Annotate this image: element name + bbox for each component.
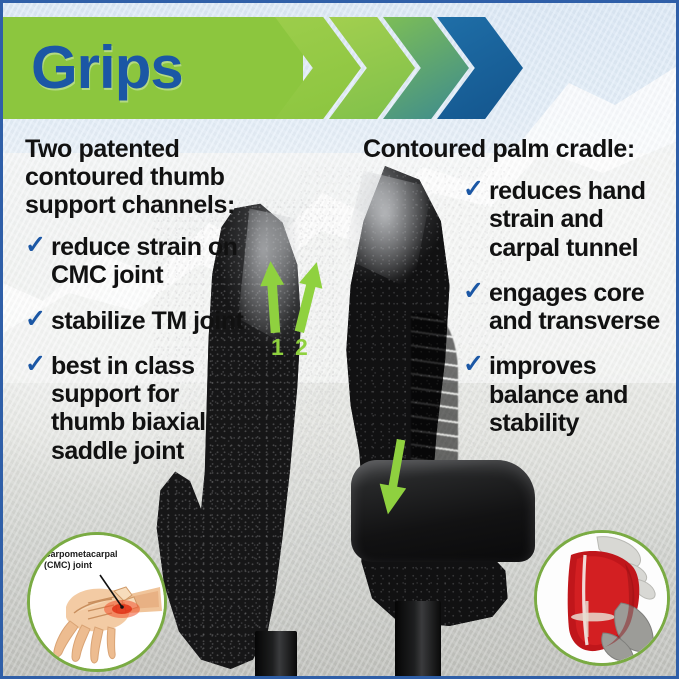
bullet-label: reduces hand strain and carpal tunnel	[489, 177, 661, 262]
list-item: ✓ improves balance and stability	[463, 352, 663, 437]
left-column-heading: Two patented contoured thumb support cha…	[25, 135, 265, 219]
bullet-label: stabilize TM joint	[51, 307, 251, 335]
check-icon: ✓	[463, 351, 484, 379]
infographic-canvas: Grips 1 2 Two patented contoured thumb s…	[0, 0, 679, 679]
page-title: Grips	[31, 38, 183, 98]
check-icon: ✓	[463, 176, 484, 204]
list-item: ✓ best in class support for thumb biaxia…	[25, 352, 265, 465]
list-item: ✓ stabilize TM joint	[25, 307, 265, 335]
bullet-label: reduce strain on CMC joint	[51, 233, 251, 290]
list-item: ✓ reduces hand strain and carpal tunnel	[463, 177, 663, 262]
check-icon: ✓	[25, 306, 46, 334]
bullet-label: best in class support for thumb biaxial …	[51, 352, 251, 465]
right-text-column: Contoured palm cradle: ✓ reduces hand st…	[363, 135, 663, 454]
check-icon: ✓	[463, 278, 484, 306]
header-banner: Grips	[3, 17, 676, 119]
bullet-label: improves balance and stability	[489, 352, 661, 437]
check-icon: ✓	[25, 351, 46, 379]
cmc-joint-inset: Carpometacarpal (CMC) joint	[27, 532, 167, 672]
right-bullet-list: ✓ reduces hand strain and carpal tunnel …	[363, 177, 663, 437]
core-muscle-inset	[534, 530, 670, 666]
core-muscle-anatomy-icon	[537, 533, 667, 663]
right-column-heading: Contoured palm cradle:	[363, 135, 663, 163]
left-bullet-list: ✓ reduce strain on CMC joint ✓ stabilize…	[25, 233, 265, 465]
bullet-label: engages core and transverse	[489, 279, 661, 336]
list-item: ✓ reduce strain on CMC joint	[25, 233, 265, 290]
cmc-joint-label: Carpometacarpal (CMC) joint	[44, 549, 140, 572]
left-text-column: Two patented contoured thumb support cha…	[25, 135, 265, 482]
list-item: ✓ engages core and transverse	[463, 279, 663, 336]
check-icon: ✓	[25, 232, 46, 260]
